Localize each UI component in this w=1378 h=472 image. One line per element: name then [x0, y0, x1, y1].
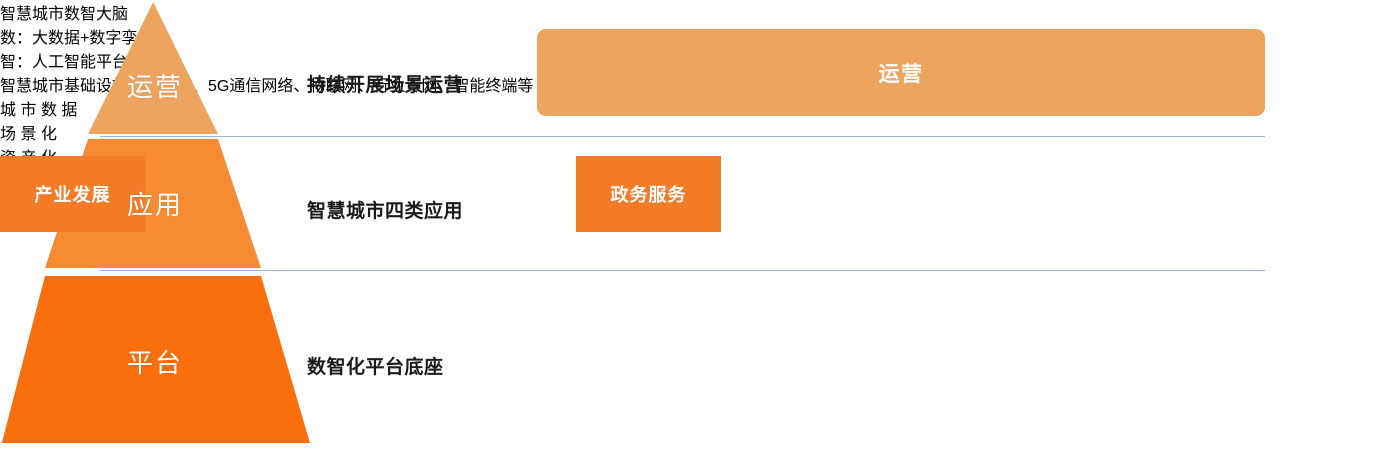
app-box-label: 政务服务 — [611, 181, 687, 207]
diagram-canvas: 运营 应用 平台 持续开展场景运营 智慧城市四类应用 数智化平台底座 运营 政务… — [0, 0, 1378, 472]
layer-caption-applications: 智慧城市四类应用 — [307, 196, 463, 223]
layer-divider-bottom — [100, 270, 1265, 271]
operations-banner-label: 运营 — [879, 58, 924, 88]
layer-caption-operations: 持续开展场景运营 — [307, 70, 463, 97]
pyramid-layer-label: 应用 — [127, 185, 183, 222]
pyramid-layer-operations[interactable]: 运营 — [0, 2, 310, 134]
operations-banner[interactable]: 运营 — [537, 29, 1265, 116]
layer-divider-top — [100, 136, 1265, 137]
app-box-label: 产业发展 — [35, 181, 111, 207]
pyramid-layer-label: 平台 — [127, 343, 183, 380]
layer-caption-platform: 数智化平台底座 — [307, 352, 444, 379]
pyramid-layer-label: 运营 — [127, 67, 183, 104]
pyramid-layer-platform[interactable]: 平台 — [0, 276, 310, 443]
app-box-government-services[interactable]: 政务服务 — [576, 156, 721, 232]
app-box-industry-development[interactable]: 产业发展 — [0, 156, 145, 232]
